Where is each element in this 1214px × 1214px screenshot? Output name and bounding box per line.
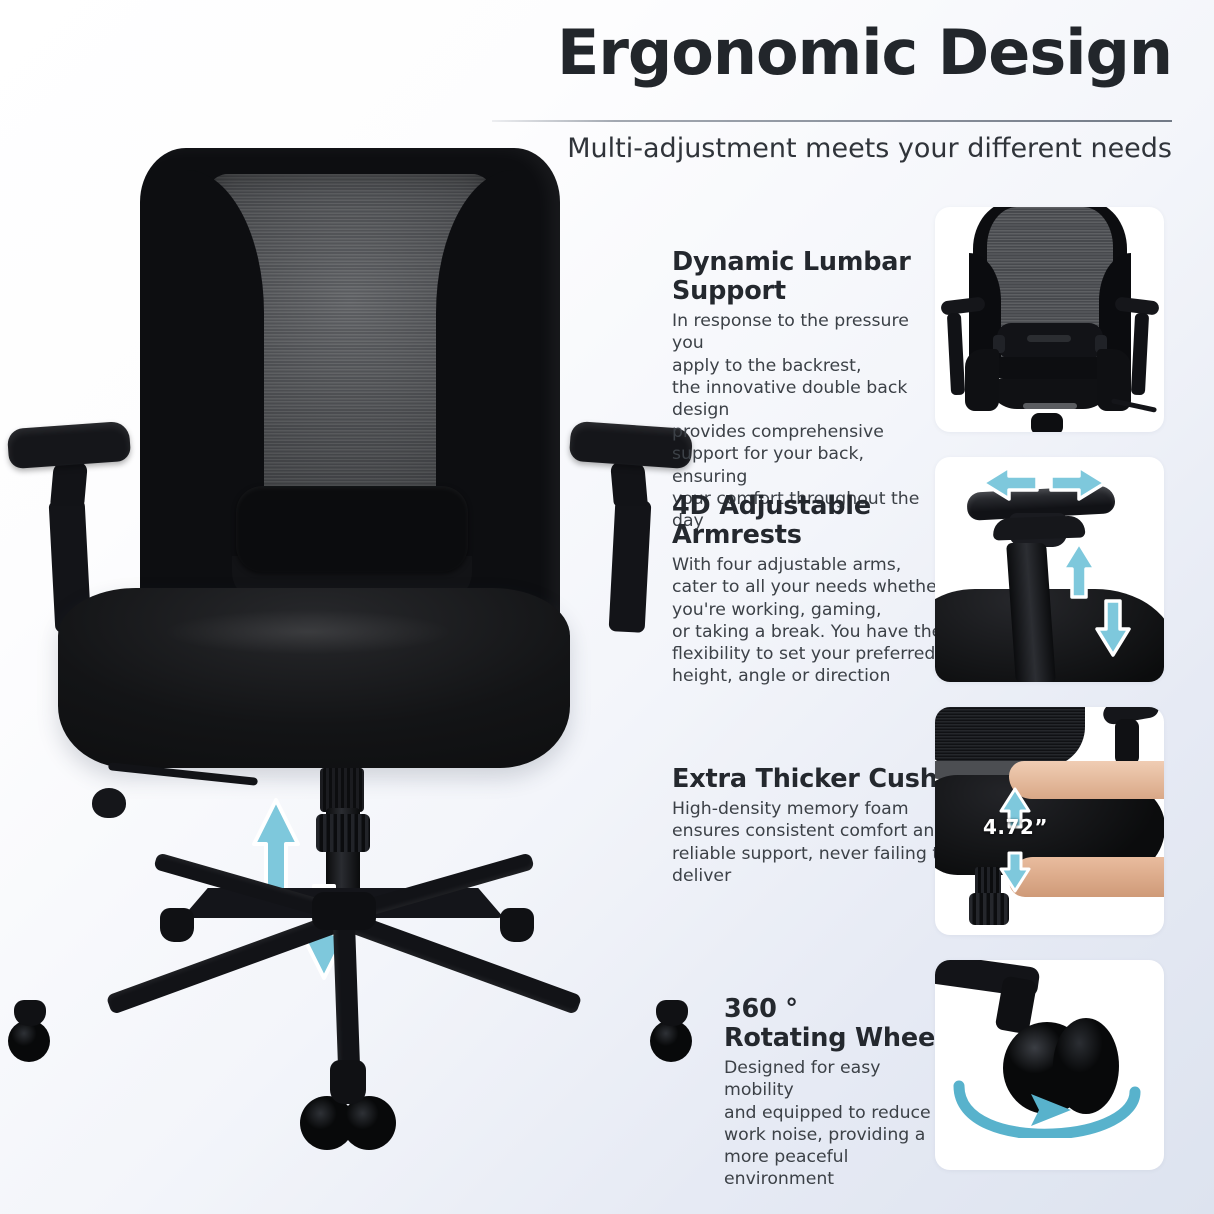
base-leg-front <box>333 923 360 1074</box>
feature-heading: 360 ° Rotating Wheel <box>724 995 954 1053</box>
rotation-arrow-icon <box>945 1056 1145 1138</box>
feature-heading: Extra Thicker Cushion <box>672 765 962 794</box>
caster-wheel-right <box>650 1020 692 1062</box>
feature-4d-adjustable-armrests: 4D Adjustable Armrests With four adjusta… <box>672 492 944 687</box>
caster-stem-front <box>330 1060 366 1104</box>
cushion-thickness-label: 4.72” <box>983 815 1048 839</box>
feature-360-rotating-wheel: 360 ° Rotating Wheel Designed for easy m… <box>724 995 954 1190</box>
feature-dynamic-lumbar-support: Dynamic Lumbar Support In response to th… <box>672 248 944 532</box>
thumbnail-caster-wheel[interactable] <box>935 960 1164 1170</box>
armrest-vertical-arrows <box>1061 539 1131 659</box>
caster-wheel-front-b <box>342 1096 396 1150</box>
caster-stem-right <box>656 1000 688 1026</box>
thumbnail-armrest[interactable] <box>935 457 1164 682</box>
main-product-image <box>0 120 700 1214</box>
armrest-horizontal-arrows <box>979 463 1109 507</box>
armrest-photo <box>935 457 1164 682</box>
caster-stem-left <box>14 1000 46 1026</box>
page-subtitle: Multi-adjustment meets your different ne… <box>492 133 1172 164</box>
armrest-post-right <box>609 499 652 633</box>
base-leg-right <box>341 911 583 1015</box>
caster-wheel-photo <box>935 960 1164 1170</box>
feature-heading: 4D Adjustable Armrests <box>672 492 944 550</box>
feature-body: With four adjustable arms, cater to all … <box>672 554 944 687</box>
caster-back-right <box>500 908 534 942</box>
armrest-neck-left <box>50 462 88 506</box>
header: Ergonomic Design <box>492 18 1172 87</box>
armrest-neck-right <box>610 462 648 506</box>
feature-body: Designed for easy mobility and equipped … <box>724 1057 954 1190</box>
feature-heading: Dynamic Lumbar Support <box>672 248 944 306</box>
header-divider <box>492 120 1172 122</box>
armrest-pad-left <box>7 421 131 469</box>
seat-cushion-thickness-photo: 4.72” <box>935 707 1164 935</box>
caster-wheel-left <box>8 1020 50 1062</box>
feature-body: High-density memory foam ensures consist… <box>672 798 962 887</box>
cushion-measure-arrows <box>995 787 1035 893</box>
caster-back-left <box>160 908 194 942</box>
chair-back-lumbar-photo <box>935 207 1164 432</box>
page-title: Ergonomic Design <box>492 18 1172 87</box>
feature-extra-thicker-cushion: Extra Thicker Cushion High-density memor… <box>672 765 962 887</box>
lumbar-support-bar <box>236 486 468 572</box>
thumbnail-cushion-thickness[interactable]: 4.72” <box>935 707 1164 935</box>
backrest-frame <box>140 148 560 628</box>
thumbnail-chair-back-lumbar[interactable] <box>935 207 1164 432</box>
lever-knob <box>92 788 126 818</box>
base-hub <box>312 892 376 930</box>
infographic-canvas: Ergonomic Design Multi-adjustment meets … <box>0 0 1214 1214</box>
seat-highlight <box>108 606 508 658</box>
